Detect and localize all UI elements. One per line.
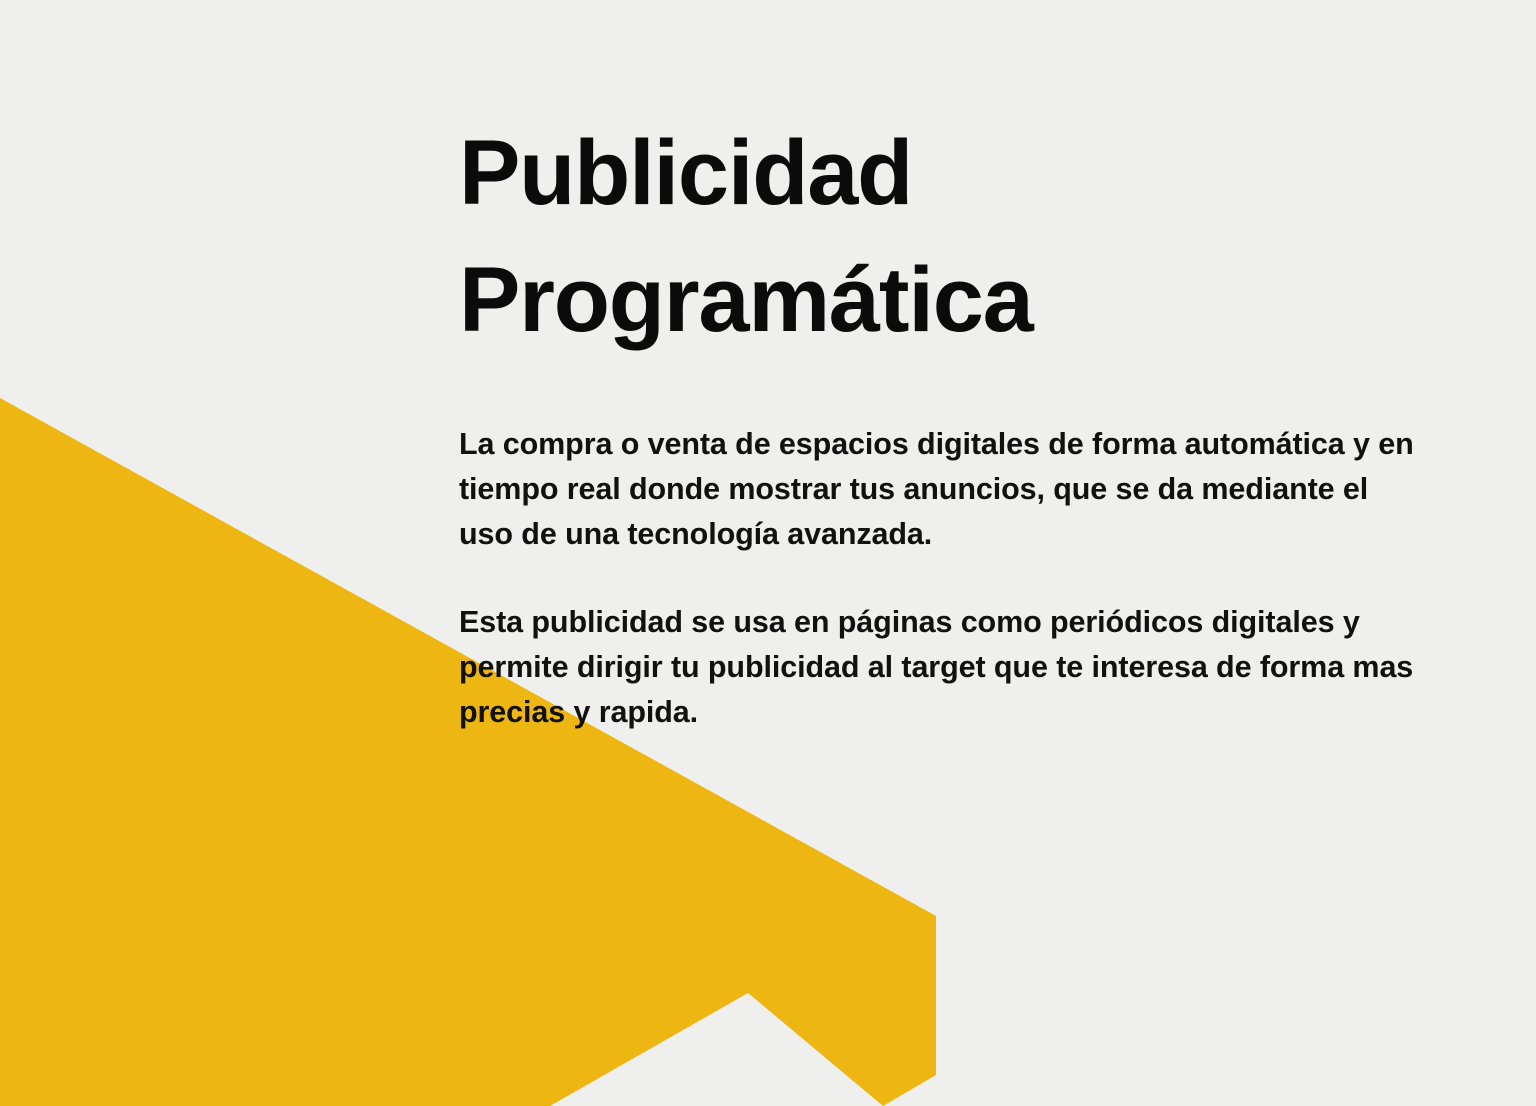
slide-canvas: Publicidad Programática La compra o vent… — [0, 0, 1536, 1106]
body-paragraph-2: Esta publicidad se usa en páginas como p… — [459, 600, 1419, 734]
slide-content: Publicidad Programática La compra o vent… — [459, 110, 1419, 735]
page-title: Publicidad Programática — [459, 110, 1419, 364]
body-paragraph-1: La compra o venta de espacios digitales … — [459, 422, 1419, 556]
body-text-block: La compra o venta de espacios digitales … — [459, 422, 1419, 735]
